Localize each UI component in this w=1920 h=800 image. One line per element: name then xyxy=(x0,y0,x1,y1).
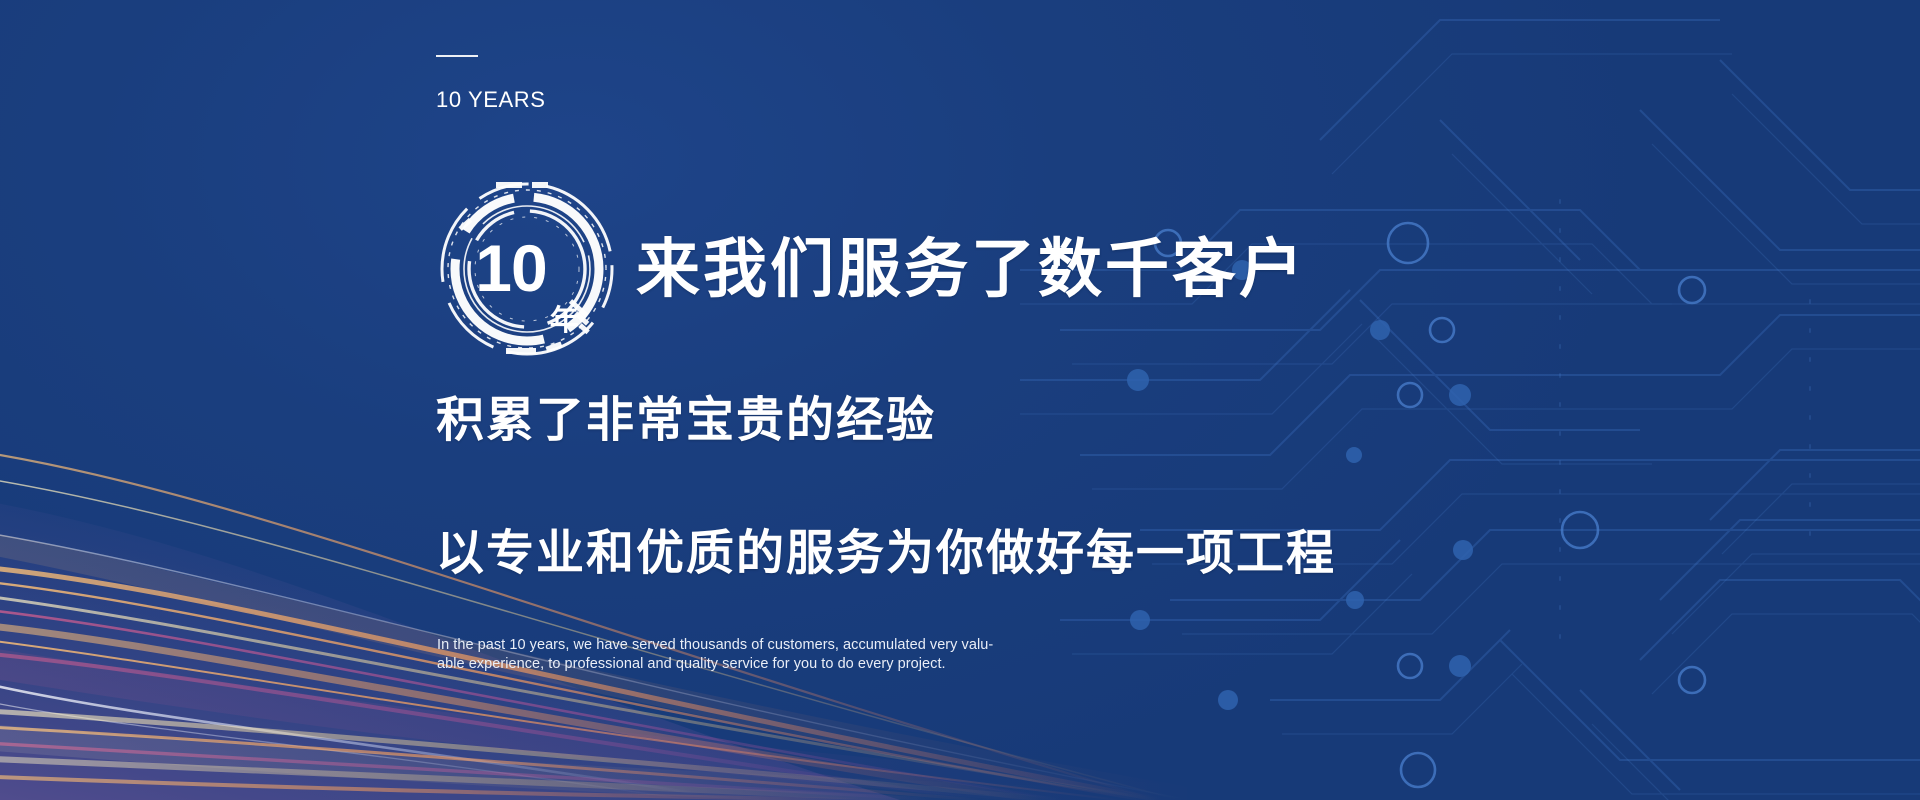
eyebrow-label: 10 YEARS xyxy=(436,87,546,113)
caption-paragraph: In the past 10 years, we have served tho… xyxy=(437,636,967,674)
badge-text: 10年 xyxy=(436,178,618,360)
promo-banner: 10 YEARS xyxy=(0,0,1920,800)
banner-content: 10 YEARS xyxy=(436,0,1636,800)
caption-line-1: In the past 10 years, we have served tho… xyxy=(437,636,967,655)
anniversary-badge: 10年 xyxy=(436,178,618,360)
headline-line-2: 积累了非常宝贵的经验 xyxy=(436,397,936,445)
headline-primary-row: 10年 来我们服务了数千客户 xyxy=(436,178,1306,360)
badge-unit: 年 xyxy=(550,307,579,358)
headline-line-3: 以专业和优质的服务为你做好每一项工程 xyxy=(436,530,1336,578)
badge-number: 10 xyxy=(475,235,546,301)
eyebrow-rule-divider xyxy=(436,55,478,57)
caption-line-2: able experience, to professional and qua… xyxy=(437,655,967,674)
headline-line-1: 来我们服务了数千客户 xyxy=(636,237,1306,301)
